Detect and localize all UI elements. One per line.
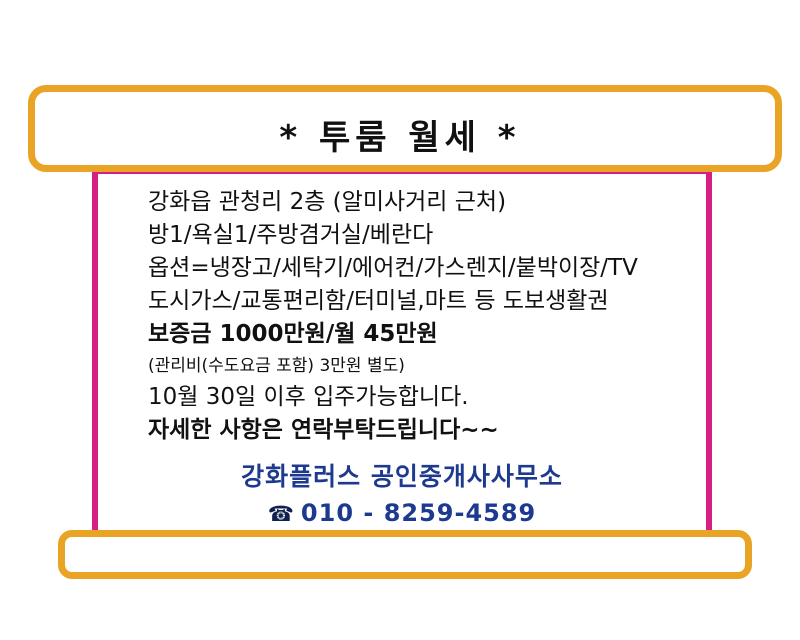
listing-details: 강화읍 관청리 2층 (알미사거리 근처) 방1/욕실1/주방겸거실/베란다 옵… (148, 186, 708, 447)
detail-line-availability: 10월 30일 이후 입주가능합니다. (148, 381, 708, 414)
detail-line-maintenance-fee: (관리비(수도요금 포함) 3만원 별도) (148, 351, 708, 381)
phone-line[interactable]: ☎010 - 8259-4589 (98, 496, 706, 531)
agency-name: 강화플러스 공인중개사사무소 (98, 460, 706, 494)
phone-number: 010 - 8259-4589 (301, 499, 536, 527)
telephone-icon: ☎ (268, 502, 295, 526)
gold-footer-frame (58, 530, 752, 579)
page-title: * 투룸 월세 * (0, 117, 800, 159)
detail-line-options: 옵션=냉장고/세탁기/에어컨/가스렌지/붙박이장/TV (148, 252, 708, 285)
detail-line-location: 강화읍 관청리 2층 (알미사거리 근처) (148, 186, 708, 219)
detail-line-amenities: 도시가스/교통편리함/터미널,마트 등 도보생활권 (148, 285, 708, 318)
detail-line-price: 보증금 1000만원/월 45만원 (148, 318, 708, 351)
contact-section: 강화플러스 공인중개사사무소 ☎010 - 8259-4589 (98, 460, 706, 531)
rental-flyer: * 투룸 월세 * 강화읍 관청리 2층 (알미사거리 근처) 방1/욕실1/주… (0, 0, 800, 640)
detail-line-closing: 자세한 사항은 연락부탁드립니다~~ (148, 414, 708, 447)
detail-line-rooms: 방1/욕실1/주방겸거실/베란다 (148, 219, 708, 252)
